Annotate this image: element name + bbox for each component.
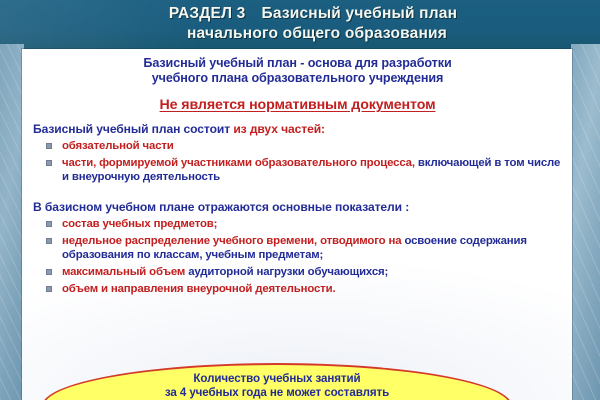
slide-right-edge-texture	[571, 44, 600, 400]
slide-section-label: РАЗДЕЛ 3	[169, 5, 246, 22]
square-bullet-icon	[46, 160, 52, 166]
panel-headline-line-2: учебного плана образовательного учрежден…	[31, 71, 564, 86]
list-item-red-text: обязательной части	[62, 140, 174, 152]
slide-title-main: Базисный учебный план	[262, 5, 458, 22]
list-item-red-text: объем и направления внеурочной деятельно…	[62, 283, 335, 295]
callout-text: Количество учебных занятий за 4 учебных …	[44, 372, 510, 400]
presentation-slide: РАЗДЕЛ 3Базисный учебный план начального…	[0, 0, 600, 400]
callout-line-2: за 4 учебных года не может составлять	[44, 386, 510, 400]
list-item: объем и направления внеурочной деятельно…	[45, 282, 564, 296]
list-item-red-text: недельное распределение учебного времени…	[62, 235, 401, 247]
section-2-lead-bold: В базисном учебном плане	[33, 200, 194, 214]
list-item-red-text: состав учебных предметов;	[62, 218, 217, 230]
section-1-lead-red: из двух частей:	[233, 122, 325, 136]
section-1-list: обязательной части части, формируемой уч…	[31, 139, 564, 184]
square-bullet-icon	[46, 238, 52, 244]
square-bullet-icon	[46, 269, 52, 275]
section-2-lead: В базисном учебном плане отражаются осно…	[33, 200, 564, 215]
section-1-lead: Базисный учебный план состоит из двух ча…	[33, 122, 564, 137]
list-item-red-text: максимальный объем	[62, 266, 185, 278]
slide-title: РАЗДЕЛ 3Базисный учебный план начального…	[0, 4, 600, 44]
square-bullet-icon	[46, 221, 52, 227]
callout-line-1: Количество учебных занятий	[193, 372, 360, 385]
list-item: состав учебных предметов;	[45, 217, 564, 231]
section-1-lead-blue: Базисный учебный план состоит	[33, 122, 230, 136]
slide-left-edge-texture	[0, 44, 24, 400]
section-2-list: состав учебных предметов; недельное расп…	[31, 217, 564, 296]
square-bullet-icon	[46, 143, 52, 149]
panel-headline: Базисный учебный план - основа для разра…	[31, 56, 564, 86]
slide-title-line-2: начального общего образования	[0, 24, 600, 44]
section-2-lead-regular: отражаются основные показатели :	[198, 200, 409, 214]
list-item: максимальный объем аудиторной нагрузки о…	[45, 265, 564, 279]
list-item-blue-text: аудиторной нагрузки обучающихся;	[188, 266, 388, 278]
square-bullet-icon	[46, 286, 52, 292]
slide-title-line-1: РАЗДЕЛ 3Базисный учебный план	[0, 4, 600, 24]
panel-headline-line-1: Базисный учебный план - основа для разра…	[31, 56, 564, 71]
red-statement: Не является нормативным документом	[31, 97, 564, 113]
list-item: недельное распределение учебного времени…	[45, 234, 564, 262]
list-item: обязательной части	[45, 139, 564, 153]
list-item: части, формируемой участниками образоват…	[45, 156, 564, 184]
list-item-red-text: части, формируемой участниками образоват…	[62, 157, 415, 169]
content-panel: Базисный учебный план - основа для разра…	[22, 49, 572, 400]
